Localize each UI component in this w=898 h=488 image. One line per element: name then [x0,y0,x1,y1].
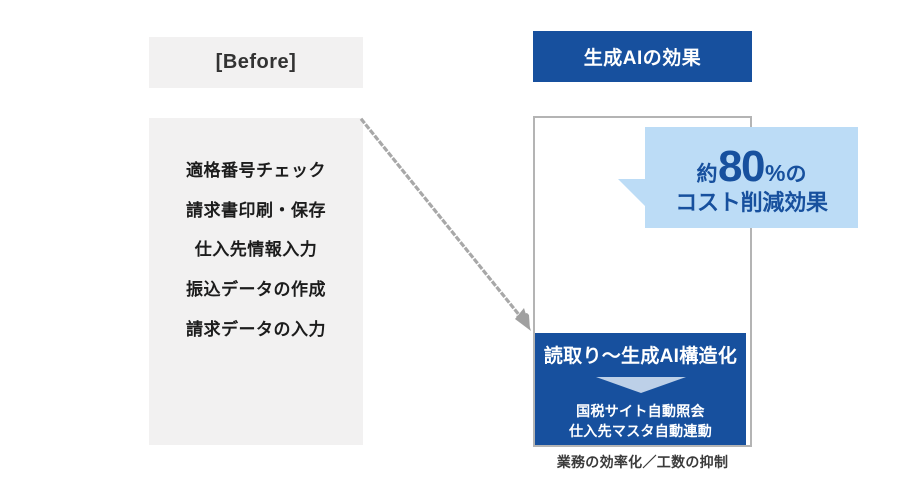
list-item: 請求書印刷・保存 [149,202,363,221]
callout-number: 80 [718,145,764,189]
ai-caption: 業務の効率化／工数の抑制 [533,452,752,472]
dotted-flow-arrow-icon [352,108,542,343]
ai-result-block: 読取り〜生成AI構造化 国税サイト自動照会 仕入先マスタ自動連動 [535,333,746,445]
list-item: 振込データの作成 [149,281,363,300]
before-header-box: [Before] [149,37,363,88]
before-header-label: [Before] [149,37,363,88]
callout-prefix: 約 [697,164,718,185]
ai-result-title: 読取り〜生成AI構造化 [535,341,746,368]
ai-result-detail: 仕入先マスタ自動連動 [535,421,746,441]
callout-content: 約 80 % の コスト削減効果 [645,127,858,228]
callout-headline: 約 80 % の [697,145,807,189]
ai-result-detail-list: 国税サイト自動照会 仕入先マスタ自動連動 [535,401,746,442]
infographic-canvas: [Before] 適格番号チェック 請求書印刷・保存 仕入先情報入力 振込データ… [0,0,898,488]
ai-header-box: 生成AIの効果 [533,31,752,82]
callout-tail-icon [618,179,645,206]
ai-header-label: 生成AIの効果 [533,31,752,82]
callout-suffix: の [785,164,806,185]
before-task-panel: 適格番号チェック 請求書印刷・保存 仕入先情報入力 振込データの作成 請求データ… [149,118,363,445]
down-arrow-icon [596,377,686,393]
list-item: 適格番号チェック [149,162,363,181]
before-task-list: 適格番号チェック 請求書印刷・保存 仕入先情報入力 振込データの作成 請求データ… [149,162,363,339]
callout-subline: コスト削減効果 [675,191,828,214]
ai-result-detail: 国税サイト自動照会 [535,401,746,421]
callout-percent-sign: % [765,162,785,185]
cost-reduction-callout: 約 80 % の コスト削減効果 [645,127,858,228]
list-item: 請求データの入力 [149,321,363,340]
list-item: 仕入先情報入力 [149,241,363,260]
